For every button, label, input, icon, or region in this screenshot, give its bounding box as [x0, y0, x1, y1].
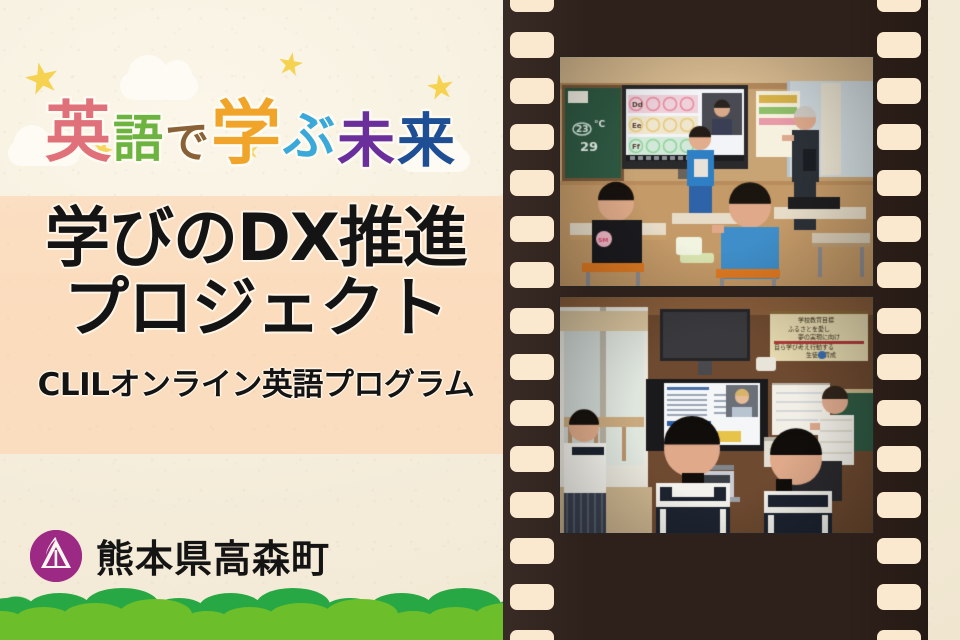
kicker-char-2: で — [165, 121, 209, 165]
film-sprocket-hole — [510, 446, 554, 472]
film-strip — [503, 0, 928, 640]
film-sprocket-hole — [510, 584, 554, 610]
film-sprocket-hole — [510, 78, 554, 104]
film-sprocket-hole — [510, 492, 554, 518]
film-sprocket-hole — [877, 308, 921, 334]
town-credit: 熊本県高森町 — [30, 528, 330, 583]
town-name-label: 熊本県高森町 — [96, 528, 330, 583]
film-sprocket-hole — [510, 354, 554, 380]
poster-root: 英 語 で 学 ぶ 未 来 学びのDX推進 プロジェクト CLILオンライン英語… — [0, 0, 960, 640]
kicker-char-3: 学 — [211, 98, 281, 168]
photo-frame-top — [559, 56, 874, 287]
town-emblem-icon — [30, 530, 82, 582]
photo-elementary-online-lesson — [560, 57, 873, 286]
film-sprocket-hole — [877, 32, 921, 58]
grass-decoration — [0, 580, 512, 640]
grass-bump — [119, 599, 192, 630]
film-sprocket-hole — [877, 446, 921, 472]
film-sprockets-right — [877, 0, 921, 640]
film-sprocket-hole — [510, 400, 554, 426]
page-title-line1: 学びのDX推進 — [45, 206, 467, 272]
film-sprocket-hole — [877, 584, 921, 610]
kicker-char-5: 未 — [337, 112, 395, 170]
film-sprockets-left — [510, 0, 554, 640]
film-sprocket-hole — [510, 0, 554, 12]
film-sprocket-hole — [877, 262, 921, 288]
film-sprocket-hole — [877, 630, 921, 640]
film-sprocket-hole — [877, 170, 921, 196]
film-sprocket-hole — [510, 170, 554, 196]
grass-bump — [269, 603, 333, 630]
film-sprocket-hole — [510, 124, 554, 150]
grass-bump — [63, 603, 127, 630]
kicker-char-6: 来 — [397, 112, 455, 170]
page-title-line2: プロジェクト — [64, 276, 448, 342]
kicker-char-4: ぶ — [283, 111, 335, 163]
film-sprocket-hole — [877, 124, 921, 150]
photo-frame-bottom — [559, 296, 874, 534]
photo-juniorhigh-online-lesson — [560, 297, 873, 533]
kicker-char-1: 語 — [113, 114, 163, 164]
film-sprocket-hole — [877, 78, 921, 104]
grass-bump — [325, 599, 398, 630]
film-sprocket-hole — [510, 32, 554, 58]
page-subtitle: CLILオンライン英語プログラム — [38, 359, 475, 404]
film-sprocket-hole — [510, 262, 554, 288]
film-sprocket-hole — [510, 308, 554, 334]
film-sprocket-hole — [877, 538, 921, 564]
film-sprocket-hole — [877, 400, 921, 426]
film-sprocket-hole — [510, 538, 554, 564]
kicker-char-0: 英 — [45, 100, 111, 166]
film-sprocket-hole — [877, 492, 921, 518]
film-sprocket-hole — [877, 0, 921, 12]
film-sprocket-hole — [510, 216, 554, 242]
film-sprocket-hole — [510, 630, 554, 640]
film-sprocket-hole — [877, 216, 921, 242]
kicker-headline: 英 語 で 学 ぶ 未 来 — [0, 78, 500, 188]
film-sprocket-hole — [877, 354, 921, 380]
main-title-block: 学びのDX推進 プロジェクト CLILオンライン英語プログラム — [0, 200, 512, 452]
